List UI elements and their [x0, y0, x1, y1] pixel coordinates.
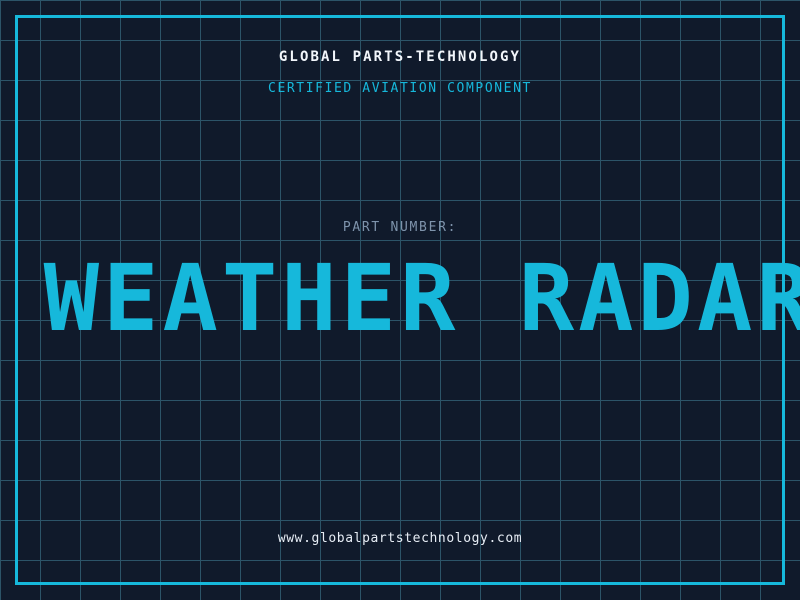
part-number-display: ED WEATHER RADAR S — [0, 249, 800, 349]
brand-title: GLOBAL PARTS-TECHNOLOGY — [0, 49, 800, 65]
brand-subtitle: CERTIFIED AVIATION COMPONENT — [0, 81, 800, 96]
card-content: GLOBAL PARTS-TECHNOLOGY CERTIFIED AVIATI… — [0, 0, 800, 600]
part-number-label: PART NUMBER: — [0, 220, 800, 235]
certified-component-card: GLOBAL PARTS-TECHNOLOGY CERTIFIED AVIATI… — [0, 0, 800, 600]
part-number-value: ED WEATHER RADAR S — [0, 249, 800, 349]
footer-url: www.globalpartstechnology.com — [0, 531, 800, 546]
